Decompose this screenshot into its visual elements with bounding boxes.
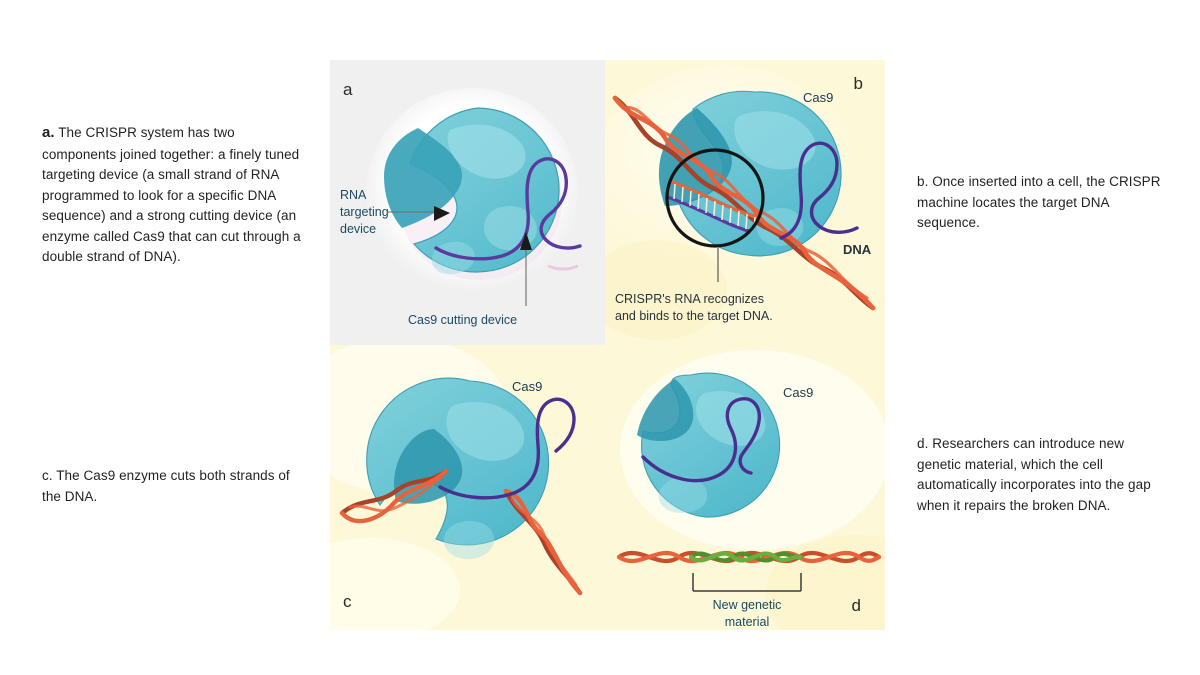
panel-letter-b: b bbox=[854, 74, 863, 94]
panel-letter-a: a bbox=[343, 80, 352, 100]
panel-d-illustration bbox=[605, 345, 885, 630]
panel-c: c Cas9 bbox=[330, 345, 605, 630]
figure-root: a. The CRISPR system has two components … bbox=[0, 0, 1200, 675]
panel-c-illustration bbox=[330, 345, 605, 630]
label-rna-targeting-device: RNA targeting device bbox=[340, 187, 389, 238]
caption-a-text: The CRISPR system has two components joi… bbox=[42, 125, 301, 264]
crispr-figure: a RNA targeting device Cas9 cutting devi… bbox=[330, 60, 885, 630]
panel-d: d Cas9 New genetic material bbox=[605, 345, 885, 630]
caption-a-lead: a. bbox=[42, 124, 55, 141]
label-cas9: Cas9 bbox=[512, 379, 542, 394]
label-new-genetic-material: New genetic material bbox=[687, 597, 807, 630]
panel-b: b Cas9 DNA CRISPR's RNA recognizes and b… bbox=[605, 60, 885, 345]
caption-panel-a: a. The CRISPR system has two components … bbox=[42, 122, 304, 268]
caption-panel-b: b. Once inserted into a cell, the CRISPR… bbox=[917, 172, 1167, 234]
panel-a: a RNA targeting device Cas9 cutting devi… bbox=[330, 60, 605, 345]
label-dna: DNA bbox=[843, 242, 871, 257]
panel-letter-c: c bbox=[343, 592, 352, 612]
caption-panel-d: d. Researchers can introduce new genetic… bbox=[917, 434, 1169, 516]
panel-letter-d: d bbox=[852, 596, 861, 616]
label-cas9-cutting-device: Cas9 cutting device bbox=[408, 313, 517, 327]
caption-panel-c: c. The Cas9 enzyme cuts both strands of … bbox=[42, 466, 304, 507]
label-cas9: Cas9 bbox=[803, 90, 833, 105]
label-cas9: Cas9 bbox=[783, 385, 813, 400]
callout-crispr-rna-binds: CRISPR's RNA recognizes and binds to the… bbox=[615, 291, 773, 326]
